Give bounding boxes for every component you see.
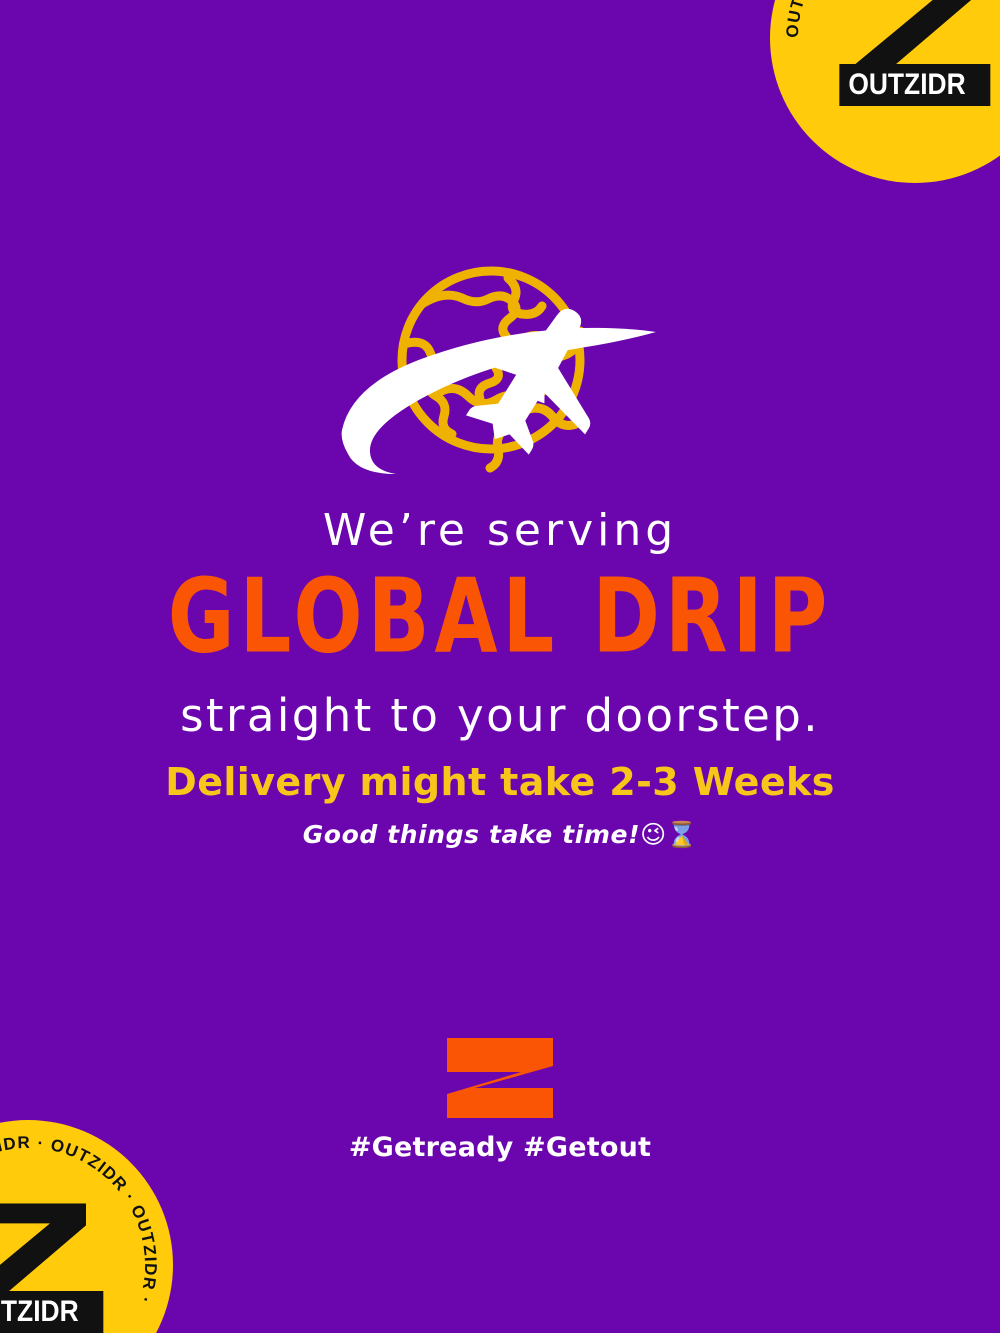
delivery-subtext-label: Good things take time! [303,820,640,849]
outzidr-z-logo [447,1038,553,1118]
stamp-wordmark-top-right: OUTZIDR [839,64,990,106]
wink-hourglass-emoji: 😉⌛ [640,820,697,849]
brand-stamp-top-right: OUTZIDR · OUTZIDR · OUTZIDR · OUTZIDR · … [770,0,1000,183]
hashtags-text: #Getready #Getout [0,1132,1000,1163]
headline-block: We’re serving GLOBAL DRIP straight to yo… [0,506,1000,741]
footer-brand-block: #Getready #Getout [0,1038,1000,1163]
globe-airplane-icon [330,252,670,480]
stamp-wordmark-text-top-right: OUTZIDR [848,70,965,100]
stamp-wordmark-text-bottom-left: OUTZIDR [0,1297,79,1327]
stamp-wordmark-bottom-left: OUTZIDR [0,1291,104,1333]
delivery-time-text: Delivery might take 2-3 Weeks [0,760,1000,806]
headline-line-3: straight to your doorstep. [0,691,1000,741]
delivery-notice-block: Delivery might take 2-3 Weeks Good thing… [0,760,1000,850]
headline-line-1: We’re serving [0,506,1000,555]
headline-line-2: GLOBAL DRIP [15,565,985,670]
poster-canvas: OUTZIDR · OUTZIDR · OUTZIDR · OUTZIDR · … [0,0,1000,1333]
delivery-subtext: Good things take time!😉⌛ [0,820,1000,850]
